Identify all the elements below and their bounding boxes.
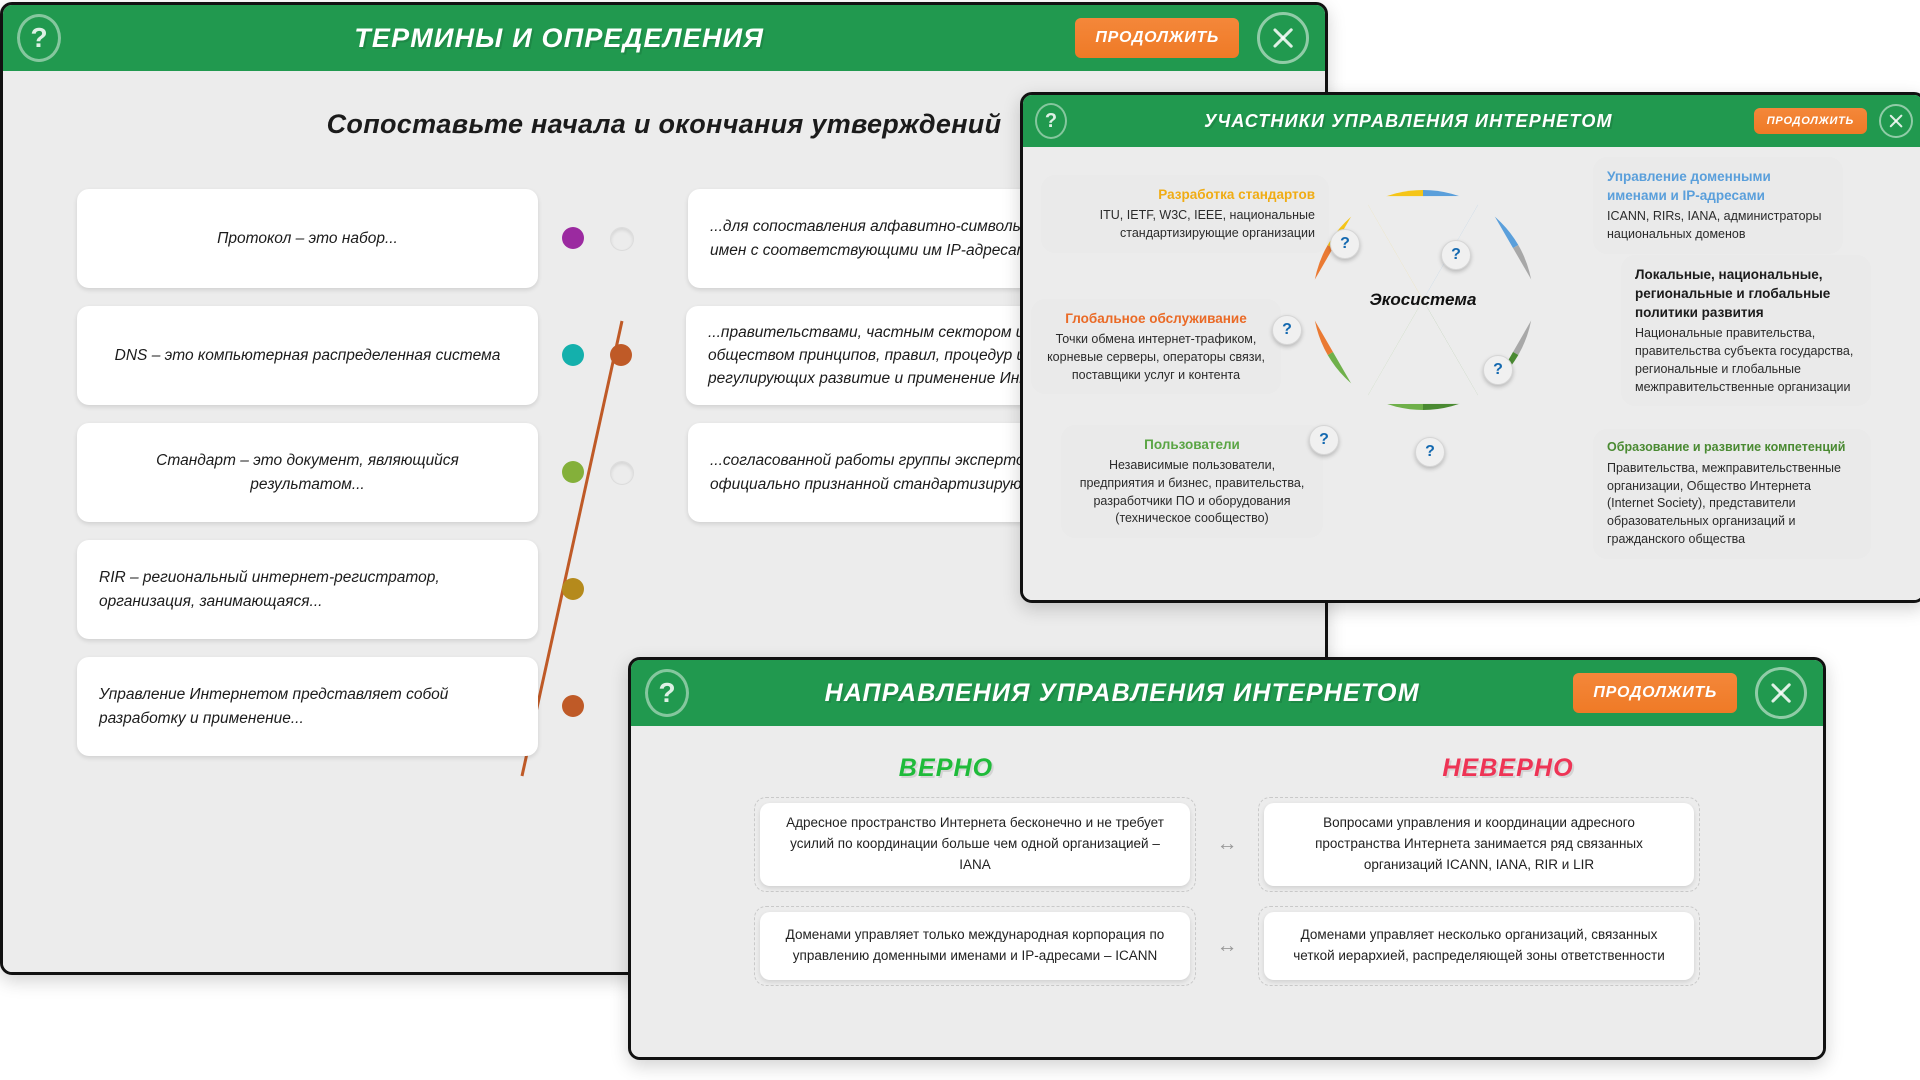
connector-dot-right[interactable] <box>610 461 634 485</box>
titlebar-participants: ? УЧАСТНИКИ УПРАВЛЕНИЯ ИНТЕРНЕТОМ ПРОДОЛ… <box>1023 95 1920 147</box>
window-title-participants: УЧАСТНИКИ УПРАВЛЕНИЯ ИНТЕРНЕТОМ <box>1023 111 1754 132</box>
term-card-left[interactable]: Протокол – это набор... <box>77 189 538 288</box>
participant-panel-domain-management[interactable]: Управление доменными именами и IP-адреса… <box>1593 157 1843 254</box>
close-icon[interactable] <box>1257 12 1309 64</box>
panel-title: Локальные, национальные, региональные и … <box>1635 265 1857 322</box>
statement-slot-true[interactable]: Адресное пространство Интернета бесконеч… <box>754 797 1196 892</box>
participant-panel-policies[interactable]: Локальные, национальные, региональные и … <box>1621 255 1871 406</box>
window-participants: ? УЧАСТНИКИ УПРАВЛЕНИЯ ИНТЕРНЕТОМ ПРОДОЛ… <box>1020 92 1920 603</box>
connector-dot-left[interactable] <box>562 578 584 600</box>
panel-body: Правительства, межправительственные орга… <box>1607 461 1841 546</box>
titlebar-directions: ? НАПРАВЛЕНИЯ УПРАВЛЕНИЯ ИНТЕРНЕТОМ ПРОД… <box>631 660 1823 726</box>
question-badge-education[interactable]: ? <box>1415 437 1445 467</box>
panel-title: Разработка стандартов <box>1055 185 1315 204</box>
continue-button-directions[interactable]: ПРОДОЛЖИТЬ <box>1573 673 1737 713</box>
statement-row: Адресное пространство Интернета бесконеч… <box>631 797 1823 892</box>
term-card-left[interactable]: DNS – это компьютерная распределенная си… <box>77 306 538 405</box>
directions-body: ВЕРНО НЕВЕРНО Адресное пространство Инте… <box>631 726 1823 1060</box>
column-header-false: НЕВЕРНО <box>1249 754 1766 783</box>
participant-panel-education[interactable]: Образование и развитие компетенций Прави… <box>1593 429 1871 559</box>
panel-body: Независимые пользователи, предприятия и … <box>1080 458 1305 525</box>
statement-slot-false[interactable]: Вопросами управления и координации адрес… <box>1258 797 1700 892</box>
participants-body: Экосистема Разработка стандартов ITU, IE… <box>1023 147 1920 600</box>
close-icon[interactable] <box>1879 104 1913 138</box>
window-title-terms: ТЕРМИНЫ И ОПРЕДЕЛЕНИЯ <box>3 23 1075 54</box>
connector-dot-left[interactable] <box>562 461 584 483</box>
term-card-left[interactable]: Стандарт – это документ, являющийся резу… <box>77 423 538 522</box>
panel-body: ITU, IETF, W3C, IEEE, национальные станд… <box>1100 208 1315 240</box>
window-title-directions: НАПРАВЛЕНИЯ УПРАВЛЕНИЯ ИНТЕРНЕТОМ <box>631 679 1573 708</box>
participant-panel-global-service[interactable]: Глобальное обслуживание Точки обмена инт… <box>1031 299 1281 394</box>
left-right-arrow-icon: ↔ <box>1196 832 1258 856</box>
participant-panel-standards[interactable]: Разработка стандартов ITU, IETF, W3C, IE… <box>1041 175 1329 253</box>
statement-card-false[interactable]: Доменами управляет несколько организаций… <box>1264 912 1694 980</box>
participant-panel-users[interactable]: Пользователи Независимые пользователи, п… <box>1061 425 1323 538</box>
question-badge-users[interactable]: ? <box>1309 425 1339 455</box>
connector-dot-left[interactable] <box>562 344 584 366</box>
left-right-arrow-icon: ↔ <box>1196 934 1258 958</box>
connector-dot-left[interactable] <box>562 227 584 249</box>
statement-card-true[interactable]: Доменами управляет только международная … <box>760 912 1190 980</box>
titlebar-terms: ? ТЕРМИНЫ И ОПРЕДЕЛЕНИЯ ПРОДОЛЖИТЬ <box>3 5 1325 71</box>
connector-dot-right[interactable] <box>610 344 632 366</box>
close-icon[interactable] <box>1755 667 1807 719</box>
connector-dot-left[interactable] <box>562 695 584 717</box>
panel-body: Точки обмена интернет-трафиком, корневые… <box>1047 332 1265 382</box>
question-badge-policies[interactable]: ? <box>1483 355 1513 385</box>
panel-title: Глобальное обслуживание <box>1045 309 1267 328</box>
statement-card-false[interactable]: Вопросами управления и координации адрес… <box>1264 803 1694 886</box>
panel-title: Управление доменными именами и IP-адреса… <box>1607 167 1829 205</box>
help-icon[interactable]: ? <box>17 14 61 62</box>
connector-dot-right[interactable] <box>610 227 634 251</box>
question-badge-global-service[interactable]: ? <box>1272 315 1302 345</box>
directions-column-headers: ВЕРНО НЕВЕРНО <box>631 732 1823 783</box>
panel-body: Национальные правительства, правительств… <box>1635 326 1853 393</box>
statement-row: Доменами управляет только международная … <box>631 906 1823 986</box>
continue-button-terms[interactable]: ПРОДОЛЖИТЬ <box>1075 18 1239 58</box>
term-card-left[interactable]: RIR – региональный интернет-регистратор,… <box>77 540 538 639</box>
help-icon[interactable]: ? <box>645 669 689 717</box>
statement-slot-false[interactable]: Доменами управляет несколько организаций… <box>1258 906 1700 986</box>
panel-body: ICANN, RIRs, IANA, администраторы национ… <box>1607 209 1821 241</box>
continue-button-participants[interactable]: ПРОДОЛЖИТЬ <box>1754 108 1867 134</box>
panel-title: Пользователи <box>1075 435 1309 454</box>
term-card-left[interactable]: Управление Интернетом представляет собой… <box>77 657 538 756</box>
statement-card-true[interactable]: Адресное пространство Интернета бесконеч… <box>760 803 1190 886</box>
column-header-true: ВЕРНО <box>687 754 1204 783</box>
window-directions: ? НАПРАВЛЕНИЯ УПРАВЛЕНИЯ ИНТЕРНЕТОМ ПРОД… <box>628 657 1826 1060</box>
question-badge-standards[interactable]: ? <box>1330 229 1360 259</box>
panel-title: Образование и развитие компетенций <box>1607 439 1857 457</box>
question-badge-domains[interactable]: ? <box>1441 240 1471 270</box>
statement-slot-true[interactable]: Доменами управляет только международная … <box>754 906 1196 986</box>
help-icon[interactable]: ? <box>1035 103 1067 139</box>
